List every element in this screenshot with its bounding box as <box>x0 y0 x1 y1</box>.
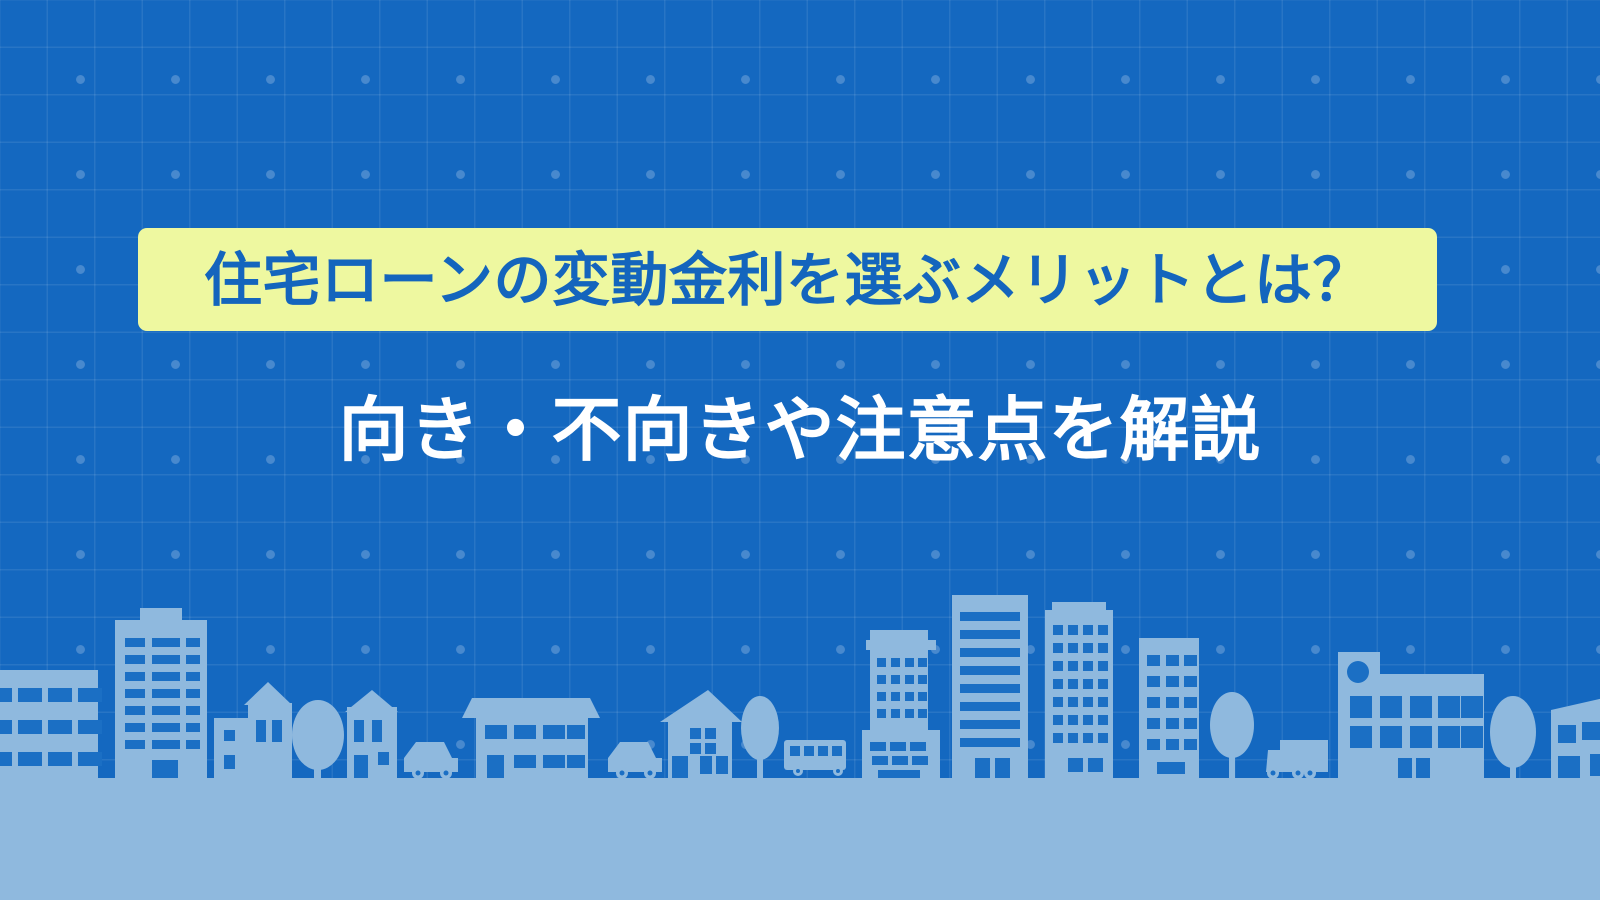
two-story-shop <box>462 698 600 780</box>
title-banner: 住宅ローンの変動金利を選ぶメリットとは？ <box>138 228 1437 331</box>
bus <box>784 740 846 776</box>
house-with-grid-window <box>660 690 742 780</box>
midrise-tower-c <box>1139 638 1199 780</box>
house-with-gable <box>214 682 292 780</box>
subtitle-row: 向き・不向きや注意点を解説 <box>0 392 1600 469</box>
small-house <box>345 690 398 780</box>
tree-oval <box>292 700 344 780</box>
page-subtitle: 向き・不向きや注意点を解説 <box>339 389 1262 471</box>
tall-striped-tower-b <box>952 595 1028 780</box>
slide-canvas: 住宅ローンの変動金利を選ぶメリットとは？ 向き・不向きや注意点を解説 <box>0 0 1600 900</box>
tall-striped-tower <box>115 608 207 780</box>
midrise-tower-b <box>1045 602 1113 780</box>
tree-right <box>1210 692 1254 780</box>
office-with-clock <box>1338 652 1484 780</box>
truck <box>1266 740 1328 779</box>
tree-far-right <box>1490 696 1536 780</box>
shop-far-right <box>1551 692 1600 780</box>
page-title: 住宅ローンの変動金利を選ぶメリットとは？ <box>204 251 1371 309</box>
low-rise-apartment-left <box>0 670 102 780</box>
tree-tall <box>741 696 779 780</box>
car-mid <box>608 742 662 779</box>
car-left <box>404 742 458 779</box>
ground-strip <box>0 778 1600 900</box>
midrise-tower-a <box>862 630 940 780</box>
cityscape-illustration <box>0 570 1600 900</box>
